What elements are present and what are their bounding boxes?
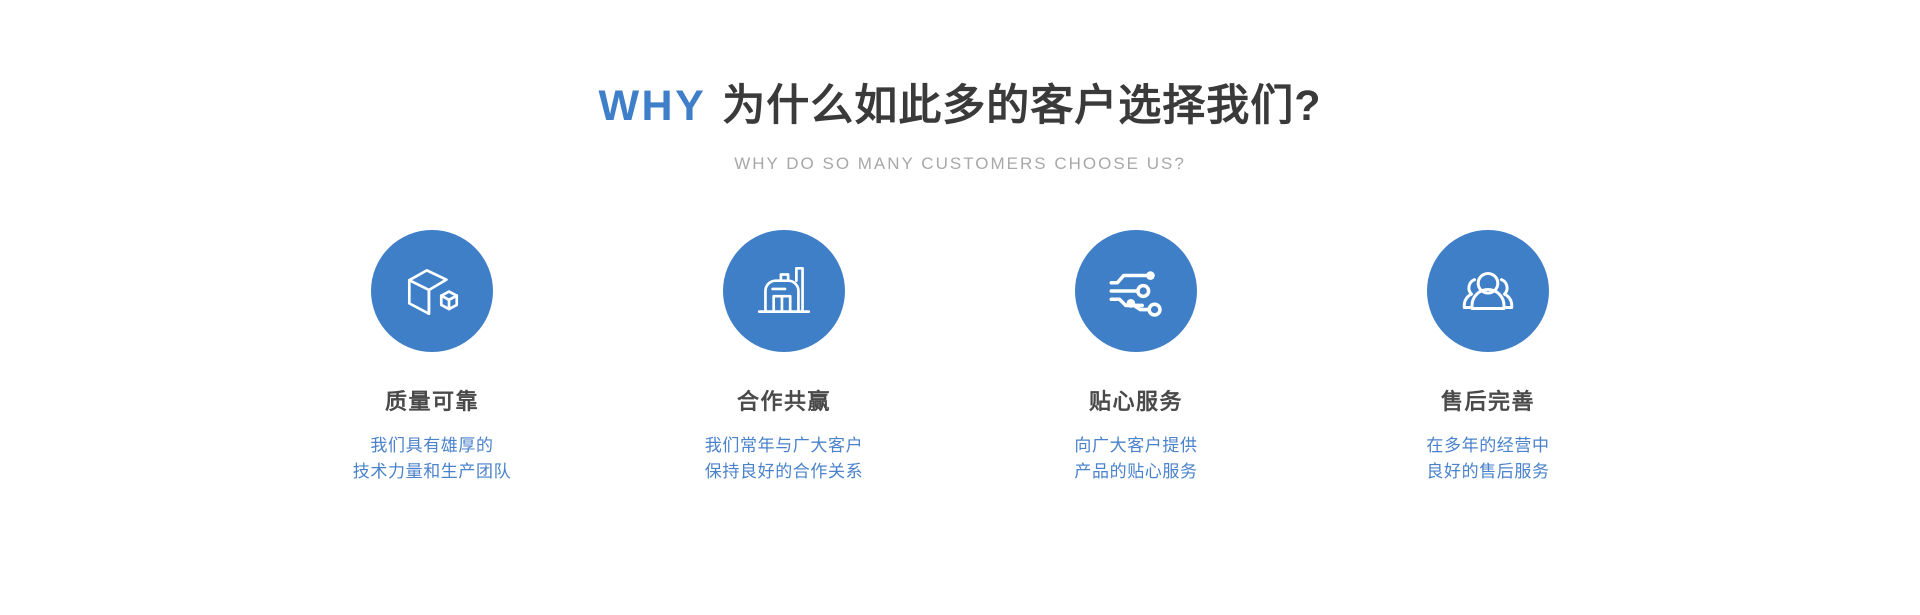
icon-circle (1075, 230, 1197, 352)
feature-card[interactable]: 合作共赢 我们常年与广大客户 保持良好的合作关系 (657, 230, 911, 484)
section-heading: WHY为什么如此多的客户选择我们? WHY DO SO MANY CUSTOME… (0, 82, 1920, 174)
icon-circle (1427, 230, 1549, 352)
feature-card-title: 售后完善 (1441, 389, 1535, 415)
section-subtitle: WHY DO SO MANY CUSTOMERS CHOOSE US? (0, 154, 1920, 174)
package-box-icon (399, 258, 465, 324)
desc-line: 技术力量和生产团队 (353, 459, 511, 485)
feature-card[interactable]: 质量可靠 我们具有雄厚的 技术力量和生产团队 (305, 230, 559, 484)
factory-icon (751, 258, 817, 324)
why-choose-us-section: WHY为什么如此多的客户选择我们? WHY DO SO MANY CUSTOME… (0, 0, 1920, 615)
desc-line: 我们常年与广大客户 (705, 433, 863, 459)
feature-card-description: 我们常年与广大客户 保持良好的合作关系 (705, 433, 863, 485)
feature-card[interactable]: 贴心服务 向广大客户提供 产品的贴心服务 (1009, 230, 1263, 484)
people-group-icon (1455, 258, 1521, 324)
feature-card-description: 在多年的经营中 良好的售后服务 (1426, 433, 1549, 485)
feature-card[interactable]: 售后完善 在多年的经营中 良好的售后服务 (1361, 230, 1615, 484)
feature-card-description: 我们具有雄厚的 技术力量和生产团队 (353, 433, 511, 485)
icon-circle (723, 230, 845, 352)
desc-line: 保持良好的合作关系 (705, 459, 863, 485)
feature-card-title: 合作共赢 (737, 389, 831, 415)
icon-circle (371, 230, 493, 352)
feature-card-list: 质量可靠 我们具有雄厚的 技术力量和生产团队 (305, 230, 1615, 484)
feature-card-title: 质量可靠 (385, 389, 479, 415)
feature-card-title: 贴心服务 (1089, 389, 1183, 415)
desc-line: 良好的售后服务 (1426, 459, 1549, 485)
desc-line: 向广大客户提供 (1074, 433, 1197, 459)
desc-line: 产品的贴心服务 (1074, 459, 1197, 485)
page-title: WHY为什么如此多的客户选择我们? (0, 82, 1920, 131)
headline-eyebrow: WHY (598, 82, 706, 130)
desc-line: 我们具有雄厚的 (353, 433, 511, 459)
headline-title: 为什么如此多的客户选择我们? (722, 82, 1321, 130)
desc-line: 在多年的经营中 (1426, 433, 1549, 459)
feature-card-description: 向广大客户提供 产品的贴心服务 (1074, 433, 1197, 485)
circuit-nodes-icon (1103, 258, 1169, 324)
